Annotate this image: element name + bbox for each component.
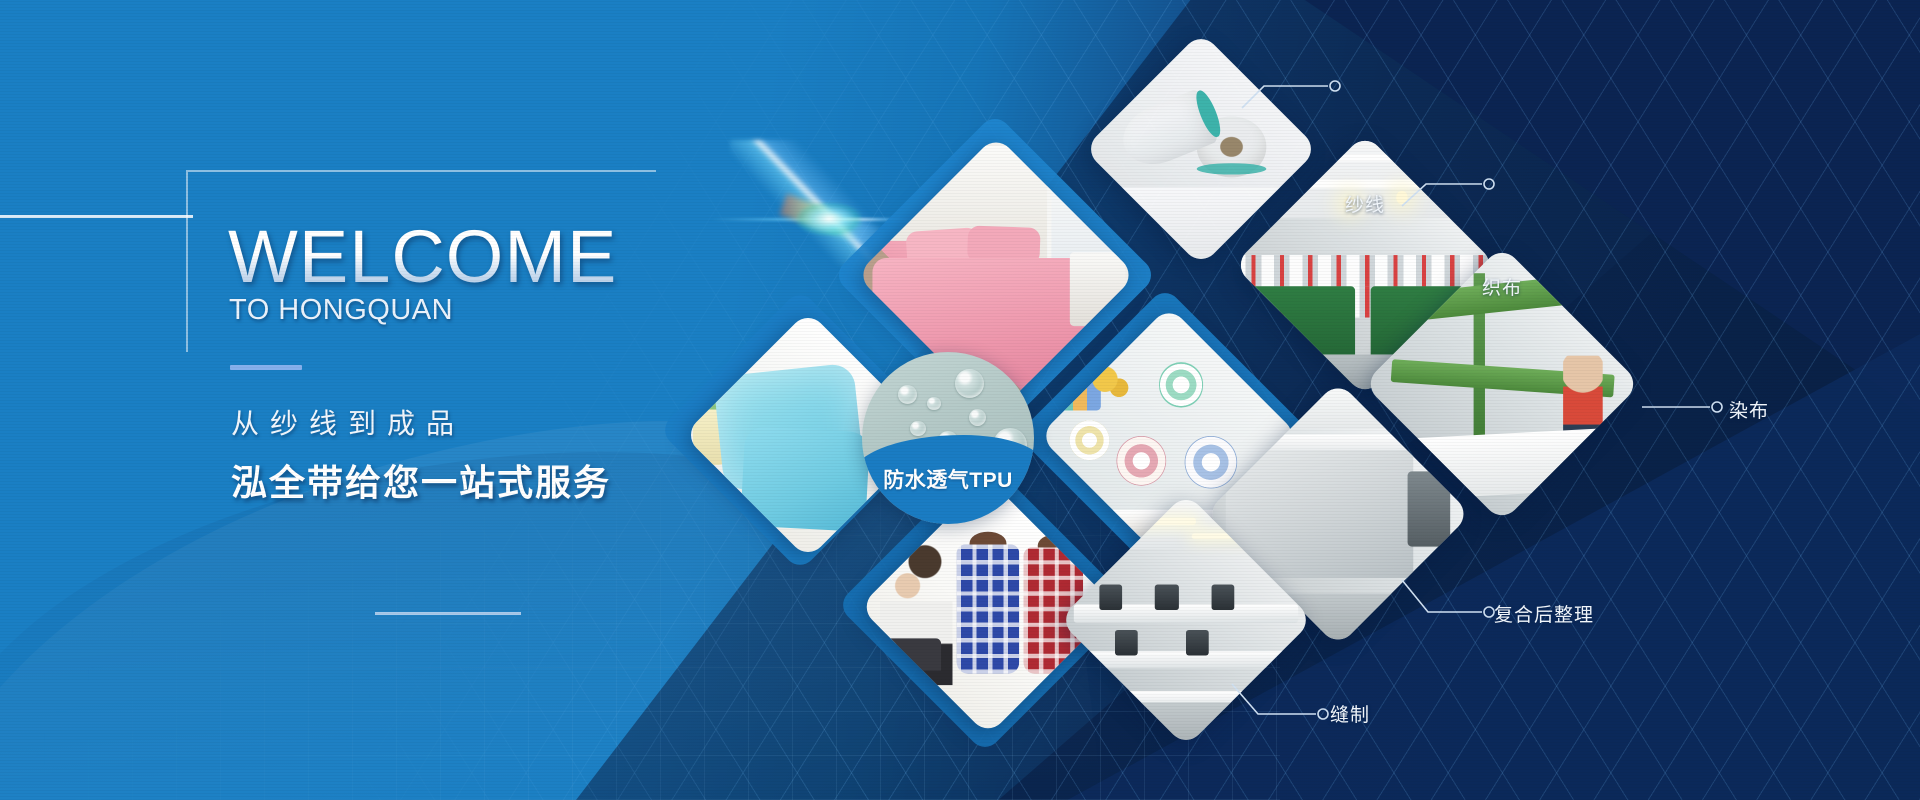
connector-weaving — [1400, 150, 1600, 210]
slogan: 泓全带给您一站式服务 — [231, 454, 746, 506]
page-title: WELCOME — [228, 222, 746, 292]
process-label-laminating: 复合后整理 — [1494, 600, 1594, 627]
divider-rule-bottom — [375, 612, 521, 615]
headline-block: WELCOME TO HONGQUAN 从纱线到成品 泓全带给您一站式服务 — [186, 170, 746, 506]
connector-yarn — [1240, 60, 1440, 110]
tpu-feature-badge[interactable]: 防水透气TPU — [862, 352, 1034, 524]
process-label-dyeing: 染布 — [1729, 396, 1769, 423]
process-label-weaving: 织布 — [1482, 273, 1522, 300]
tpu-badge-label: 防水透气TPU — [862, 464, 1034, 494]
hero-banner: WELCOME TO HONGQUAN 从纱线到成品 泓全带给您一站式服务 — [0, 0, 1920, 800]
accent-bar — [230, 365, 302, 370]
process-label-yarn: 纱线 — [1345, 190, 1385, 217]
divider-rule-left — [0, 215, 193, 218]
process-label-sewing: 缝制 — [1330, 700, 1370, 727]
